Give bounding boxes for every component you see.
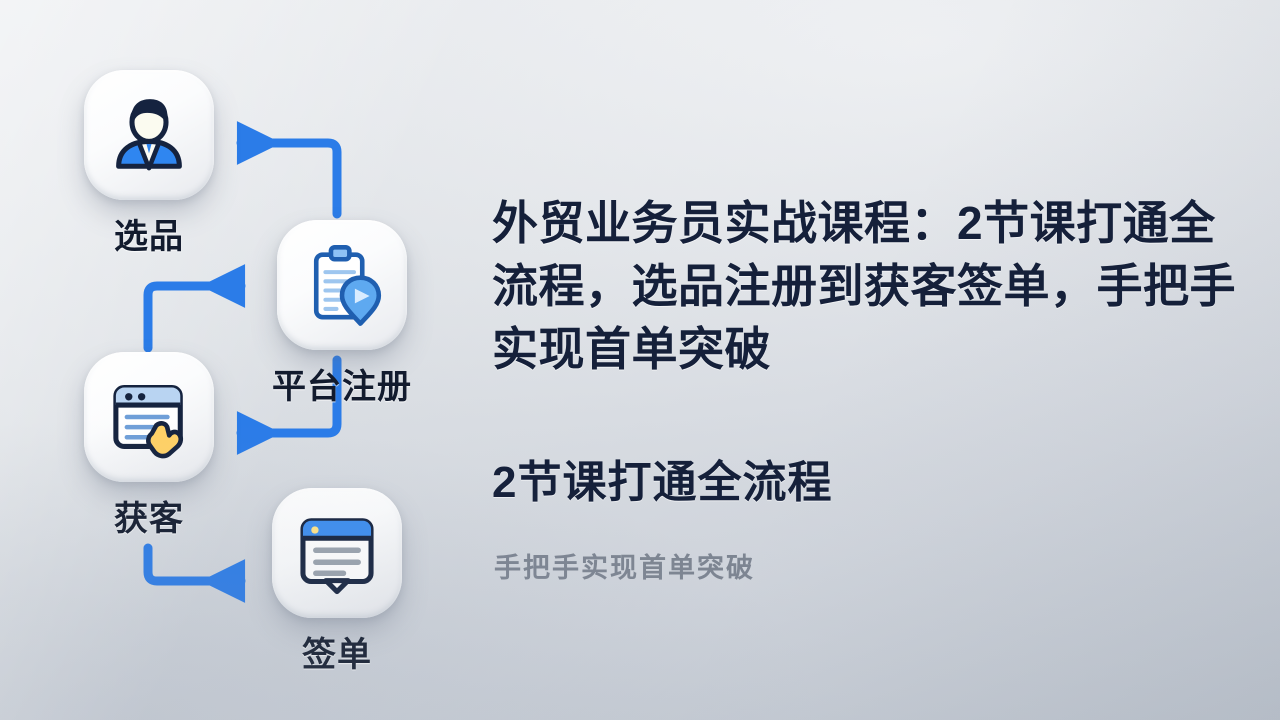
page-title: 外贸业务员实战课程：2节课打通全流程，选品注册到获客签单，手把手实现首单突破	[492, 192, 1244, 381]
flow-node-tile	[272, 488, 402, 618]
copy-panel: 外贸业务员实战课程：2节课打通全流程，选品注册到获客签单，手把手实现首单突破 2…	[492, 0, 1252, 720]
slide-canvas: 选品	[0, 0, 1280, 720]
flow-node-xuanpin[interactable]: 选品	[84, 70, 214, 258]
connector-pingtai-to-xuanpin	[241, 143, 337, 214]
businessman-avatar-icon	[103, 89, 195, 181]
speech-bubble-document-icon	[291, 507, 383, 599]
flow-node-tile	[84, 352, 214, 482]
browser-window-cursor-icon	[103, 371, 195, 463]
flow-node-pingtai[interactable]: 平台注册	[272, 220, 412, 408]
process-flow-diagram: 选品	[0, 0, 470, 720]
clipboard-location-pin-icon	[296, 239, 388, 331]
flow-node-label: 获客	[114, 491, 184, 540]
flow-node-label: 签单	[302, 627, 372, 676]
subheading: 2节课打通全流程	[492, 455, 832, 511]
flow-node-tile	[277, 220, 407, 350]
connector-huoke-to-pingtai	[148, 286, 241, 348]
connector-huoke-to-qiandan	[148, 548, 241, 581]
flow-node-label: 平台注册	[272, 359, 412, 408]
caption-text: 手把手实现首单突破	[494, 548, 755, 588]
flow-node-qiandan[interactable]: 签单	[272, 488, 402, 676]
flow-node-tile	[84, 70, 214, 200]
flow-node-huoke[interactable]: 获客	[84, 352, 214, 540]
flow-node-label: 选品	[114, 209, 184, 258]
